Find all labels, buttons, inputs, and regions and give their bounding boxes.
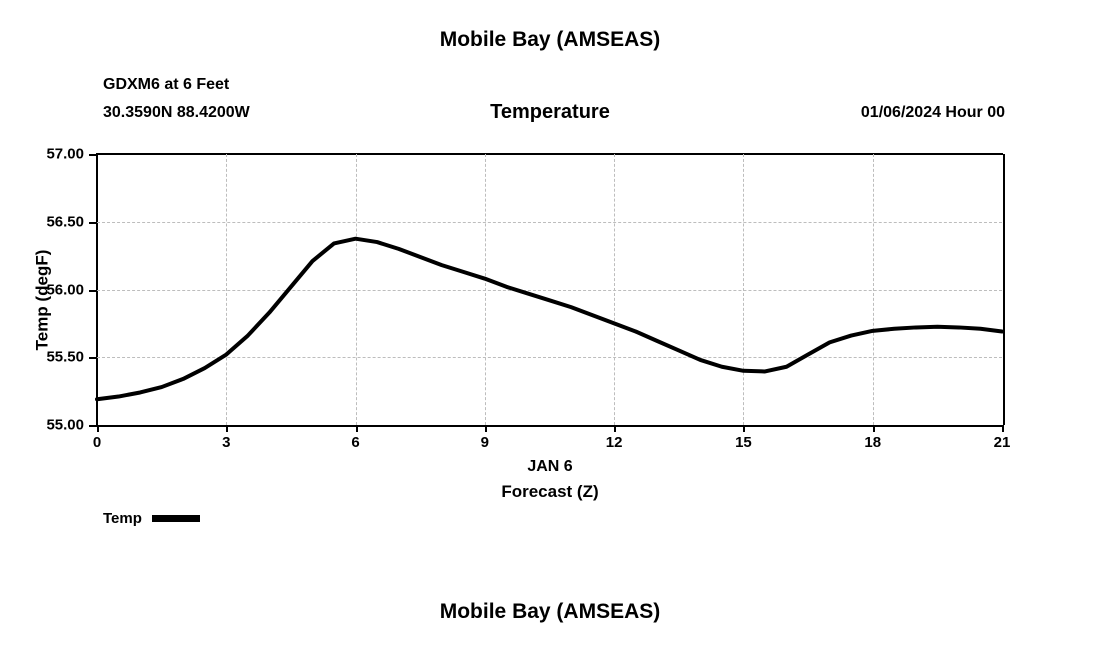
y-tick-label: 55.50 bbox=[46, 349, 84, 366]
y-tick bbox=[89, 425, 97, 427]
y-tick bbox=[89, 154, 97, 156]
x-tick bbox=[614, 425, 616, 432]
x-tick bbox=[1002, 425, 1004, 432]
x-tick-label: 12 bbox=[606, 434, 623, 451]
plot-axis-x bbox=[96, 425, 1003, 427]
x-tick bbox=[743, 425, 745, 432]
x-tick-label: 9 bbox=[481, 434, 489, 451]
station-depth-label: GDXM6 at 6 Feet bbox=[103, 76, 229, 94]
x-tick bbox=[226, 425, 228, 432]
gridline-horizontal bbox=[97, 222, 1002, 223]
y-tick bbox=[89, 290, 97, 292]
x-tick-label: 3 bbox=[222, 434, 230, 451]
forecast-run-label: 01/06/2024 Hour 00 bbox=[861, 104, 1005, 122]
y-axis-title: Temp (degF) bbox=[32, 250, 52, 351]
gridline-horizontal bbox=[97, 357, 1002, 358]
page-title-top: Mobile Bay (AMSEAS) bbox=[0, 28, 1100, 52]
page-title-bottom: Mobile Bay (AMSEAS) bbox=[0, 600, 1100, 624]
x-tick-label: 21 bbox=[994, 434, 1011, 451]
y-tick bbox=[89, 222, 97, 224]
y-tick-label: 56.00 bbox=[46, 281, 84, 298]
gridline-horizontal bbox=[97, 290, 1002, 291]
chart-page: Mobile Bay (AMSEAS) GDXM6 at 6 Feet 30.3… bbox=[0, 0, 1100, 650]
x-tick-label: 15 bbox=[735, 434, 752, 451]
y-tick-label: 55.00 bbox=[46, 417, 84, 434]
x-tick bbox=[873, 425, 875, 432]
x-tick-label: 18 bbox=[864, 434, 881, 451]
y-tick bbox=[89, 357, 97, 359]
legend-label-temp: Temp bbox=[103, 510, 142, 527]
y-tick-label: 57.00 bbox=[46, 146, 84, 163]
x-tick bbox=[356, 425, 358, 432]
x-axis-date-label: JAN 6 bbox=[0, 458, 1100, 476]
x-tick-label: 6 bbox=[351, 434, 359, 451]
x-tick bbox=[485, 425, 487, 432]
y-tick-label: 56.50 bbox=[46, 213, 84, 230]
legend: Temp bbox=[103, 510, 200, 527]
x-axis-title: Forecast (Z) bbox=[0, 482, 1100, 502]
x-tick bbox=[97, 425, 99, 432]
x-tick-label: 0 bbox=[93, 434, 101, 451]
legend-swatch-temp bbox=[152, 515, 200, 522]
